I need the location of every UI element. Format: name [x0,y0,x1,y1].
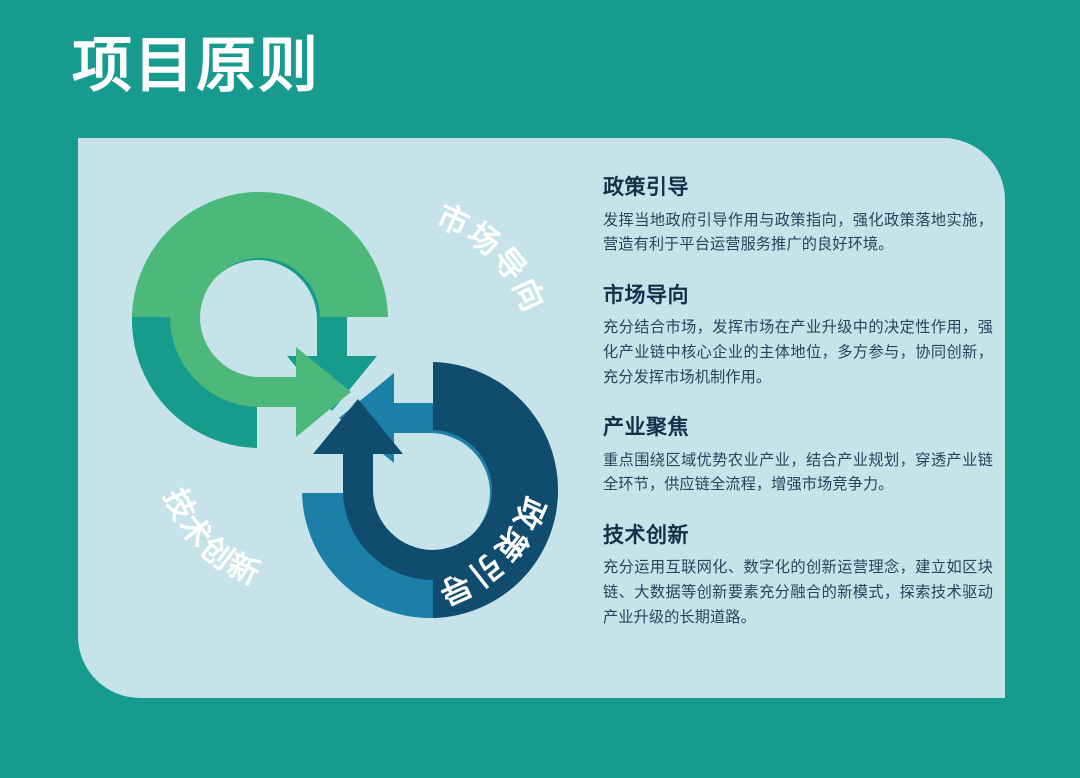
principle-item: 市场导向 充分结合市场，发挥市场在产业升级中的决定性作用，强化产业链中核心企业的… [603,280,993,390]
principle-item: 产业聚焦 重点围绕区域优势农业产业，结合产业规划，穿透产业链全环节，供应链全流程… [603,412,993,498]
segment-technology-innovation-label: 技术创新 [157,483,267,593]
principle-body: 充分结合市场，发挥市场在产业升级中的决定性作用，强化产业链中核心企业的主体地位，… [603,316,993,390]
principle-item: 技术创新 充分运用互联网化、数字化的创新运营理念，建立如区块链、大数据等创新要素… [603,520,993,630]
principle-item: 政策引导 发挥当地政府引导作用与政策指向，强化政策落地实施，营造有利于平台运营服… [603,172,993,258]
principle-heading: 政策引导 [603,172,993,204]
principle-heading: 产业聚焦 [603,412,993,444]
cycle-diagram: 产业聚焦 市场导向 政策引导 技术创新 [110,170,580,640]
slide-canvas: 项目原则 产业聚焦 市场导向 [0,0,1080,778]
principle-heading: 技术创新 [603,520,993,552]
principle-body: 充分运用互联网化、数字化的创新运营理念，建立如区块链、大数据等创新要素充分融合的… [603,556,993,630]
principles-list: 政策引导 发挥当地政府引导作用与政策指向，强化政策落地实施，营造有利于平台运营服… [603,172,993,630]
principle-body: 重点围绕区域优势农业产业，结合产业规划，穿透产业链全环节，供应链全流程，增强市场… [603,449,993,498]
principle-body: 发挥当地政府引导作用与政策指向，强化政策落地实施，营造有利于平台运营服务推广的良… [603,209,993,258]
segment-market-orientation-label: 市场导向 [432,198,552,318]
principle-heading: 市场导向 [603,280,993,312]
page-title: 项目原则 [72,34,320,97]
